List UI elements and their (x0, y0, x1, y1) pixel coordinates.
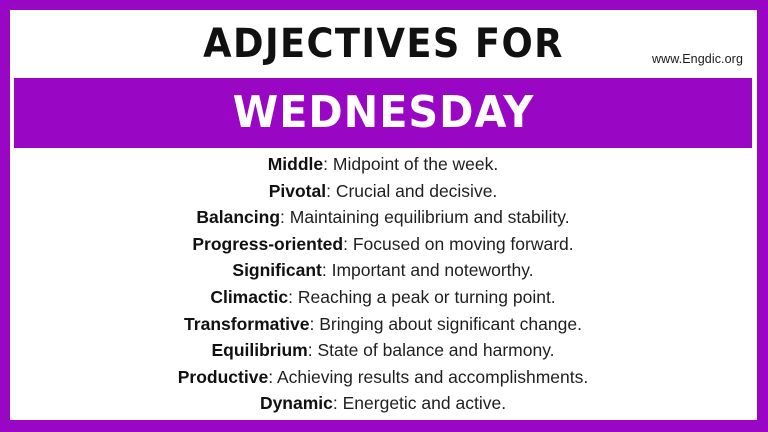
day-banner-label: WEDNESDAY (232, 89, 534, 137)
list-item: Dynamic: Energetic and active. (14, 390, 752, 417)
list-item: Transformative: Bringing about significa… (14, 311, 752, 338)
adjective-separator: : (310, 314, 320, 334)
adjective-description: Bringing about significant change. (319, 314, 582, 334)
list-item: Pivotal: Crucial and decisive. (14, 178, 752, 205)
adjective-term: Significant (232, 260, 321, 280)
frame-border-top (0, 0, 768, 10)
adjective-term: Dynamic (260, 393, 333, 413)
adjective-term: Productive (178, 367, 268, 387)
adjective-separator: : (280, 207, 290, 227)
adjective-separator: : (343, 234, 353, 254)
adjective-term: Pivotal (269, 181, 326, 201)
adjective-separator: : (288, 287, 298, 307)
list-item: Productive: Achieving results and accomp… (14, 364, 752, 391)
adjective-description: Important and noteworthy. (332, 260, 534, 280)
adjective-term: Climactic (210, 287, 288, 307)
list-item: Climactic: Reaching a peak or turning po… (14, 284, 752, 311)
poster-canvas: ADJECTIVES FOR www.Engdic.org WEDNESDAY … (0, 0, 768, 432)
adjective-separator: : (326, 181, 336, 201)
adjective-description: Focused on moving forward. (353, 234, 574, 254)
site-url-label: www.Engdic.org (652, 52, 743, 67)
adjective-description: Energetic and active. (343, 393, 506, 413)
frame-border-bottom (0, 420, 768, 432)
adjective-separator: : (333, 393, 343, 413)
adjective-description: Achieving results and accomplishments. (277, 367, 588, 387)
list-item: Equilibrium: State of balance and harmon… (14, 337, 752, 364)
adjective-term: Balancing (196, 207, 280, 227)
adjective-term: Equilibrium (211, 340, 307, 360)
list-item: Progress-oriented: Focused on moving for… (14, 231, 752, 258)
adjective-separator: : (323, 154, 333, 174)
frame-border-right (757, 0, 768, 432)
adjective-term: Middle (268, 154, 323, 174)
adjective-description: Crucial and decisive. (336, 181, 497, 201)
adjective-separator: : (322, 260, 332, 280)
adjective-separator: : (308, 340, 318, 360)
adjective-description: Maintaining equilibrium and stability. (290, 207, 570, 227)
adjective-description: State of balance and harmony. (317, 340, 554, 360)
list-item: Significant: Important and noteworthy. (14, 257, 752, 284)
adjective-term: Transformative (184, 314, 309, 334)
adjective-description: Midpoint of the week. (333, 154, 498, 174)
adjective-term: Progress-oriented (192, 234, 343, 254)
list-item: Middle: Midpoint of the week. (14, 151, 752, 178)
day-banner: WEDNESDAY (14, 78, 752, 148)
page-title: ADJECTIVES FOR (44, 22, 724, 66)
list-item: Balancing: Maintaining equilibrium and s… (14, 204, 752, 231)
adjective-separator: : (268, 367, 277, 387)
header-zone: ADJECTIVES FOR www.Engdic.org (14, 14, 753, 78)
adjective-list: Middle: Midpoint of the week. Pivotal: C… (14, 151, 752, 416)
frame-border-left (0, 0, 10, 432)
adjective-description: Reaching a peak or turning point. (298, 287, 556, 307)
